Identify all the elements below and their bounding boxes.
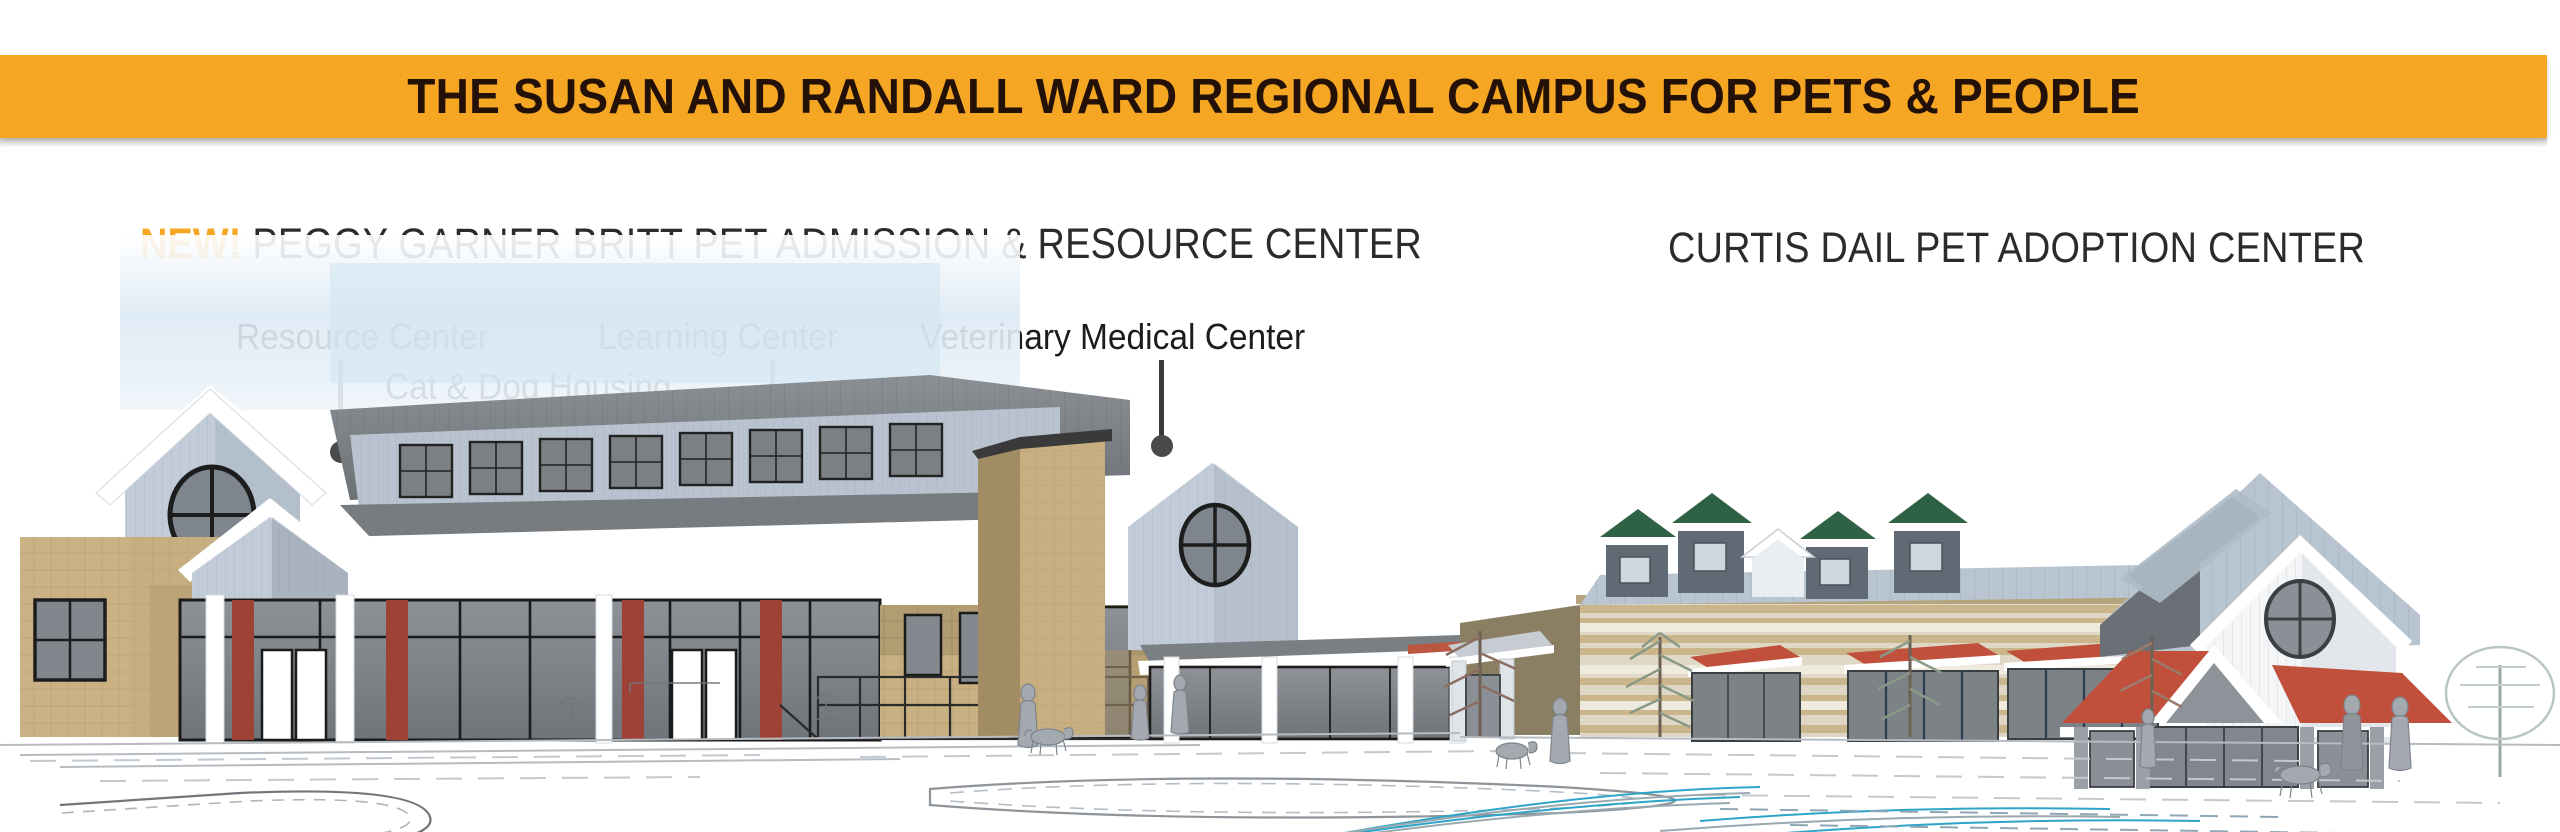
right-building-curtis-dail — [1446, 473, 2454, 789]
campus-title-text: THE SUSAN AND RANDALL WARD REGIONAL CAMP… — [407, 69, 2140, 125]
entry-red-roof-right — [2272, 665, 2452, 723]
architectural-rendering — [0, 145, 2560, 832]
teal-walk-lines — [1180, 787, 2200, 832]
brick-pier-2 — [386, 600, 408, 740]
campus-title-banner: THE SUSAN AND RANDALL WARD REGIONAL CAMP… — [0, 55, 2547, 138]
rendering-page: THE SUSAN AND RANDALL WARD REGIONAL CAMP… — [0, 0, 2560, 832]
cupola-4 — [1884, 493, 1972, 593]
dog-2 — [1496, 742, 1537, 769]
canopy-column-3 — [596, 595, 612, 743]
person-3 — [1131, 685, 1149, 740]
person-2 — [1171, 675, 1189, 734]
canopy-column-2 — [336, 595, 354, 743]
cupola-2 — [1668, 493, 1756, 593]
curb-loop-mid — [930, 778, 1675, 817]
right-wing-column-2 — [1262, 657, 1277, 743]
person-7 — [2140, 709, 2156, 768]
curb-loop-left — [60, 791, 431, 832]
entry-column-4 — [2370, 727, 2384, 789]
left-building-peggy-garner-britt — [20, 375, 1470, 743]
brick-pier-1 — [232, 600, 254, 740]
tree-5 — [2446, 647, 2554, 777]
canopy-column-1 — [206, 595, 224, 743]
tan-tower-left-face — [978, 441, 1020, 737]
cupola-1 — [1596, 509, 1680, 597]
person-5 — [2341, 695, 2363, 771]
brick-pier-4 — [760, 600, 782, 740]
brick-pier-3 — [622, 600, 644, 740]
person-4 — [1550, 698, 1570, 764]
person-6 — [2389, 697, 2411, 771]
awning-1 — [1688, 645, 1802, 741]
mid-window-a — [905, 615, 941, 675]
right-wing-column-3 — [1398, 657, 1413, 743]
awning-2 — [1844, 643, 2000, 741]
